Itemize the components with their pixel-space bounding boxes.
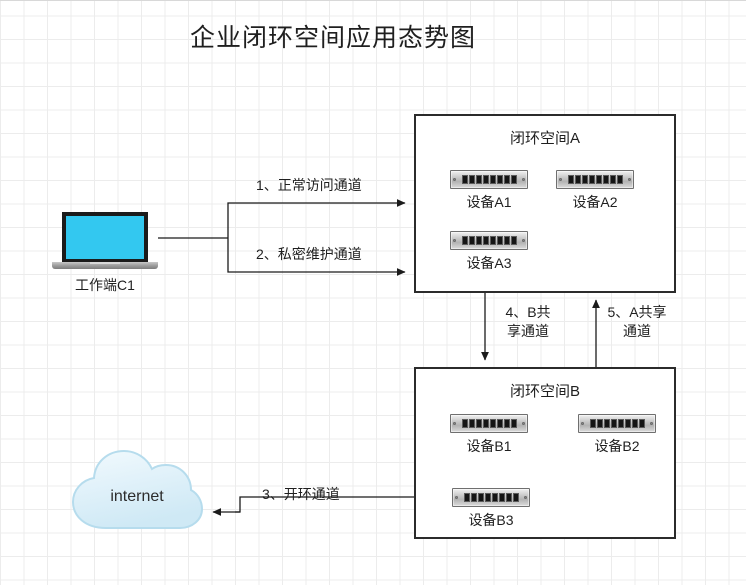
edge-label-channel-1: 1、正常访问通道 xyxy=(256,176,362,195)
network-switch-icon xyxy=(450,231,528,250)
device-a2[interactable]: 设备A2 xyxy=(556,170,634,212)
network-switch-icon xyxy=(578,414,656,433)
box-space-b-title: 闭环空间B xyxy=(416,380,674,401)
device-a1-label: 设备A1 xyxy=(450,192,528,212)
link-channel-1 xyxy=(228,203,405,238)
node-workstation[interactable]: 工作端C1 xyxy=(52,212,158,295)
laptop-icon xyxy=(62,212,148,262)
device-b3-label: 设备B3 xyxy=(452,510,530,530)
edge-label-channel-4-line2: 享通道 xyxy=(507,323,549,339)
edge-label-channel-5-line2: 通道 xyxy=(623,323,651,339)
device-b1[interactable]: 设备B1 xyxy=(450,414,528,456)
edge-label-channel-5-line1: 5、A共享 xyxy=(607,304,666,320)
device-b2-label: 设备B2 xyxy=(578,436,656,456)
edge-label-channel-4-line1: 4、B共 xyxy=(505,304,550,320)
box-space-a-title: 闭环空间A xyxy=(416,127,674,148)
network-switch-icon xyxy=(452,488,530,507)
page-title: 企业闭环空间应用态势图 xyxy=(190,18,476,54)
laptop-base xyxy=(52,262,158,269)
node-internet[interactable]: internet xyxy=(68,448,206,536)
network-switch-icon xyxy=(556,170,634,189)
device-b2[interactable]: 设备B2 xyxy=(578,414,656,456)
edge-label-channel-5: 5、A共享 通道 xyxy=(602,303,672,341)
device-a1[interactable]: 设备A1 xyxy=(450,170,528,212)
node-internet-label: internet xyxy=(68,488,206,506)
device-b1-label: 设备B1 xyxy=(450,436,528,456)
diagram-canvas: 企业闭环空间应用态势图 1、正常访问通道 2、私密维护通道 3、开环通道 4、B… xyxy=(0,0,746,585)
network-switch-icon xyxy=(450,414,528,433)
node-workstation-label: 工作端C1 xyxy=(52,275,158,295)
edge-label-channel-4: 4、B共 享通道 xyxy=(495,303,561,341)
device-a3[interactable]: 设备A3 xyxy=(450,231,528,273)
device-a2-label: 设备A2 xyxy=(556,192,634,212)
network-switch-icon xyxy=(450,170,528,189)
device-a3-label: 设备A3 xyxy=(450,253,528,273)
edge-label-channel-2: 2、私密维护通道 xyxy=(256,245,362,264)
device-b3[interactable]: 设备B3 xyxy=(452,488,530,530)
page-top-border xyxy=(0,0,746,1)
edge-label-channel-3: 3、开环通道 xyxy=(262,485,340,504)
